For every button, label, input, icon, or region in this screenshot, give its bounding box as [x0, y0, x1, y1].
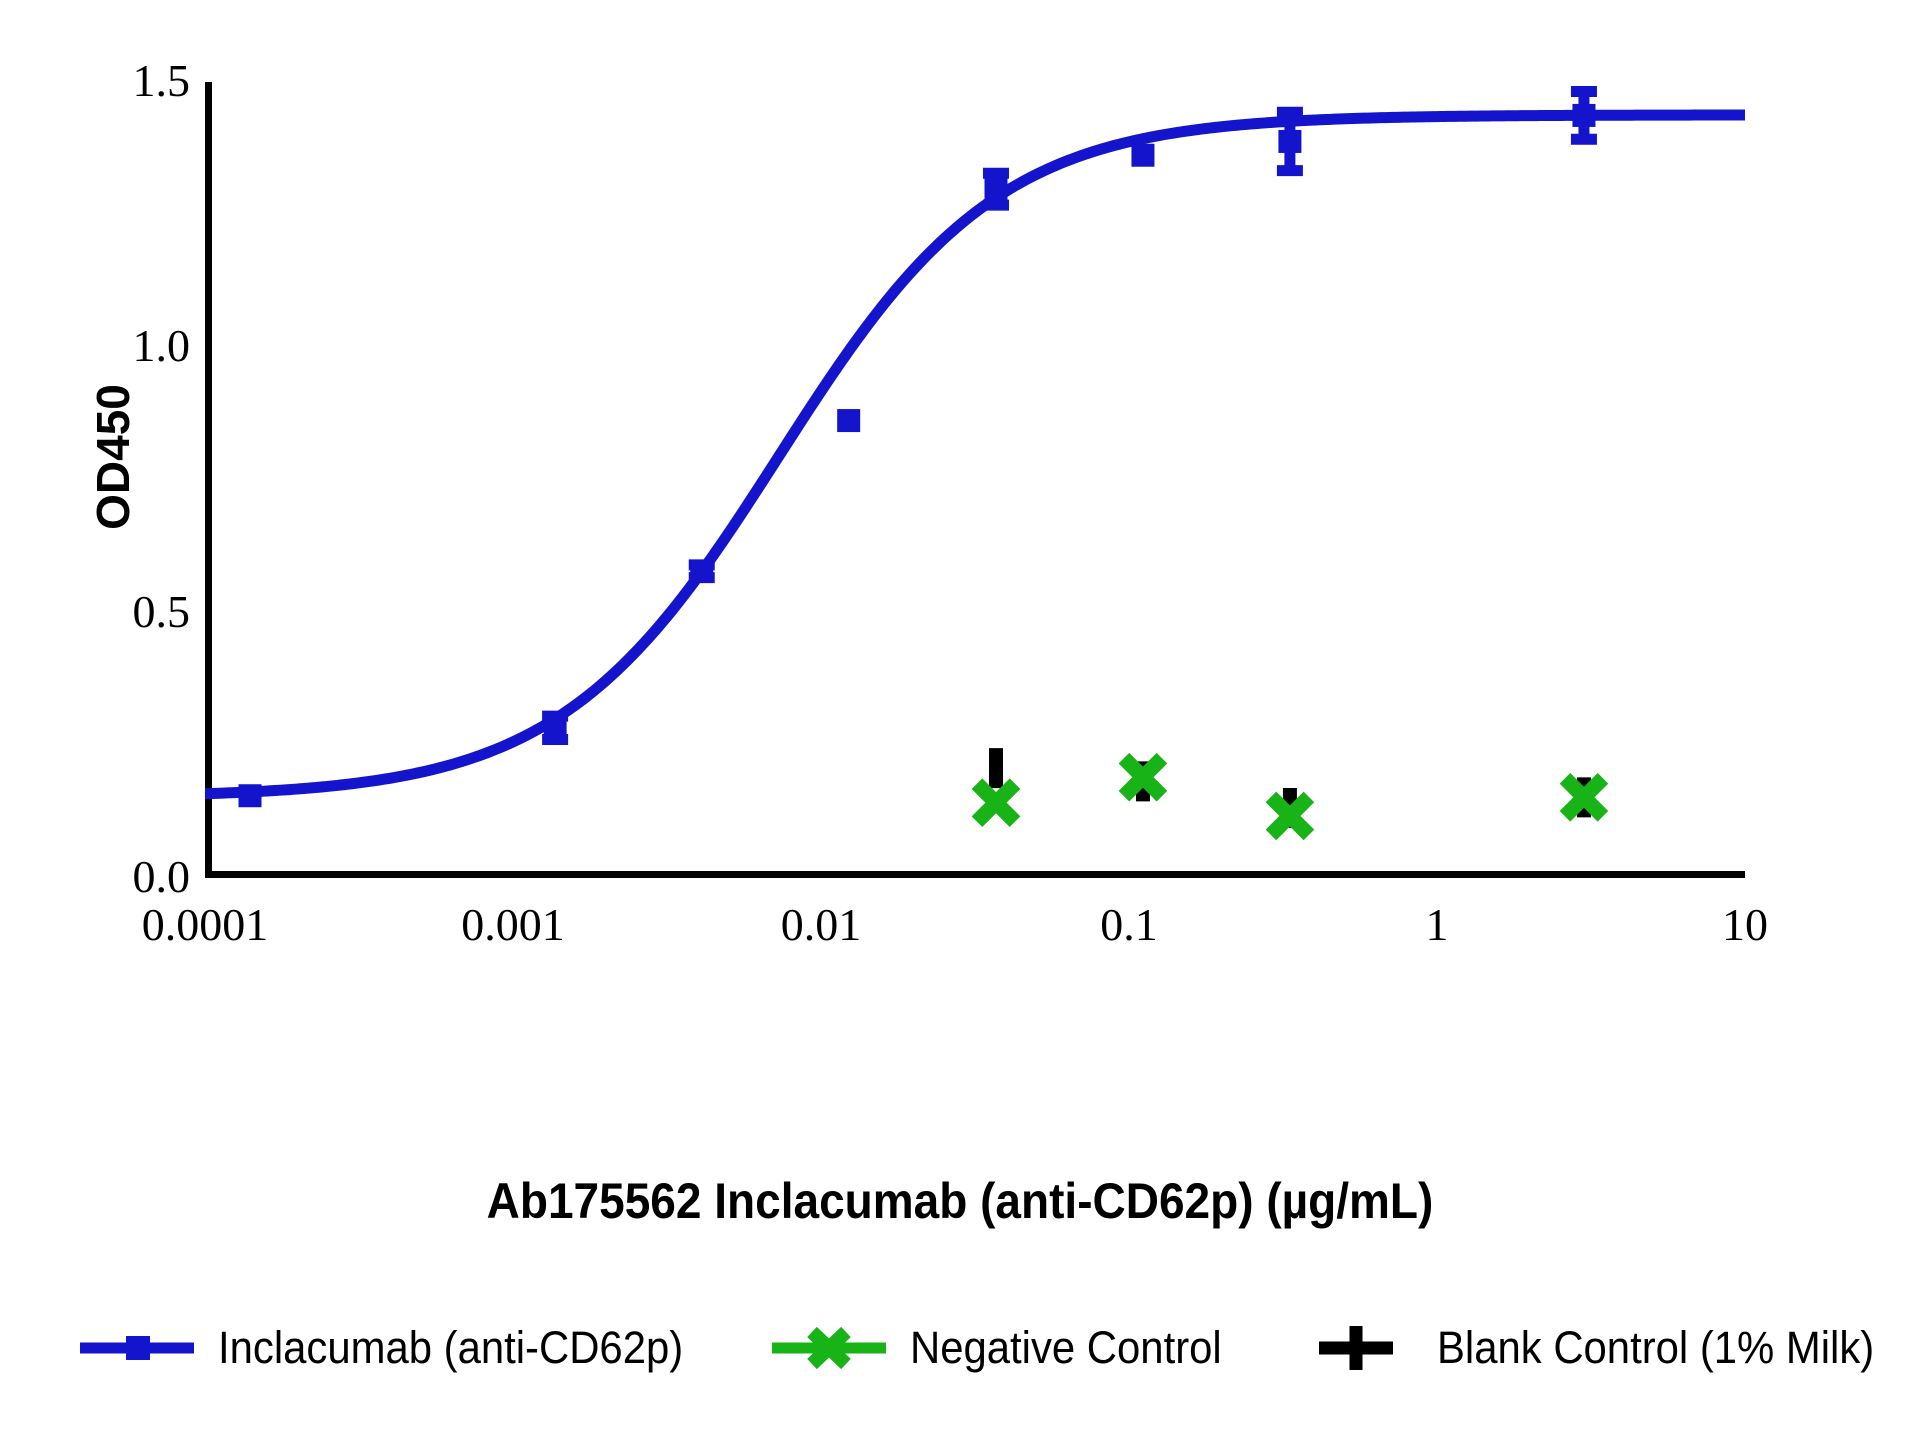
legend-swatch-x-icon: [770, 1326, 888, 1370]
x-axis-tick-label: 1: [1426, 902, 1449, 948]
data-point-marker: [1131, 144, 1154, 167]
legend-item[interactable]: Negative Control: [770, 1322, 1245, 1374]
plot-area: [205, 82, 1745, 878]
data-point-marker: [985, 178, 1008, 201]
legend-marker-icon: [1297, 1326, 1415, 1370]
negative-control-marker: [977, 784, 1015, 822]
y-axis-tick-label: 0.5: [133, 589, 191, 635]
data-point-marker: [690, 560, 713, 583]
y-axis-tick-label: 0.0: [133, 854, 191, 900]
x-axis-tick-label: 0.01: [781, 902, 862, 948]
chart-canvas: [205, 82, 1745, 878]
data-point-marker: [1572, 104, 1595, 127]
fit-curve-inclacumab: [205, 115, 1745, 794]
chart-page: 1.51.00.50.0 OD450 0.00010.0010.010.1110…: [0, 0, 1920, 1440]
y-axis-tick-label: 1.0: [133, 323, 191, 369]
legend-item[interactable]: Blank Control (1% Milk): [1297, 1322, 1907, 1374]
x-axis-title: Ab175562 Inclacumab (anti-CD62p) (µg/mL): [77, 1172, 1843, 1230]
data-point-marker: [239, 784, 262, 807]
y-axis-tick-label: 1.5: [133, 58, 191, 104]
legend-marker-icon: [78, 1326, 196, 1370]
legend-item[interactable]: Inclacumab (anti-CD62p): [78, 1322, 718, 1374]
legend-swatch-square-icon: [78, 1326, 196, 1370]
legend-swatch-plus-icon: [1297, 1326, 1415, 1370]
x-axis-tick-label: 10: [1722, 902, 1768, 948]
chart-legend: Inclacumab (anti-CD62p)Negative ControlB…: [0, 1322, 1920, 1374]
legend-label: Blank Control (1% Milk): [1437, 1322, 1874, 1374]
legend-label: Inclacumab (anti-CD62p): [218, 1322, 683, 1374]
series-inclacumab: [239, 92, 1597, 808]
legend-marker-icon: [770, 1326, 888, 1370]
x-axis-tick-label: 0.001: [461, 902, 565, 948]
data-point-marker: [837, 409, 860, 432]
x-axis-tick-label: 0.1: [1100, 902, 1158, 948]
y-axis-title: OD450: [86, 292, 140, 622]
data-point-marker: [1278, 130, 1301, 153]
legend-square-icon: [126, 1336, 150, 1360]
x-axis-tick-label: 0.0001: [142, 902, 269, 948]
legend-label: Negative Control: [910, 1322, 1222, 1374]
data-point-marker: [544, 716, 567, 739]
